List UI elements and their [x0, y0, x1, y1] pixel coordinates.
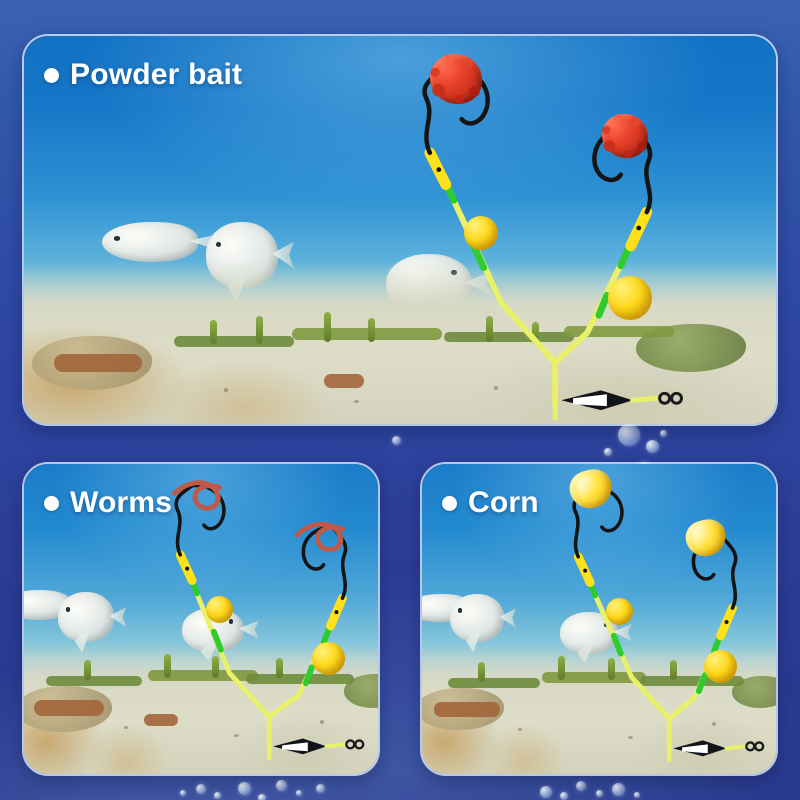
panel-label-worms: Worms: [44, 486, 172, 520]
panel-worms[interactable]: Worms: [22, 462, 380, 776]
bullet-dot-icon: [442, 496, 457, 511]
underwater-scene: [24, 36, 776, 424]
rig-bead: [206, 596, 233, 623]
panel-label-text: Corn: [468, 486, 539, 520]
rig-bead: [606, 598, 633, 625]
panel-label-text: Worms: [70, 486, 172, 520]
panel-label-corn: Corn: [442, 486, 539, 520]
bullet-dot-icon: [44, 496, 59, 511]
panel-label-powder-bait: Powder bait: [44, 58, 242, 92]
rig-bead: [312, 642, 345, 675]
rig-bead: [464, 216, 498, 250]
bait-powder: [602, 114, 648, 158]
fishing-rig: [24, 36, 776, 424]
bullet-dot-icon: [44, 68, 59, 83]
panel-corn[interactable]: Corn: [420, 462, 778, 776]
panel-powder-bait[interactable]: Powder bait: [22, 34, 778, 426]
rig-bead: [704, 650, 737, 683]
panel-label-text: Powder bait: [70, 58, 242, 92]
rig-bead: [608, 276, 652, 320]
bait-powder: [430, 54, 482, 104]
